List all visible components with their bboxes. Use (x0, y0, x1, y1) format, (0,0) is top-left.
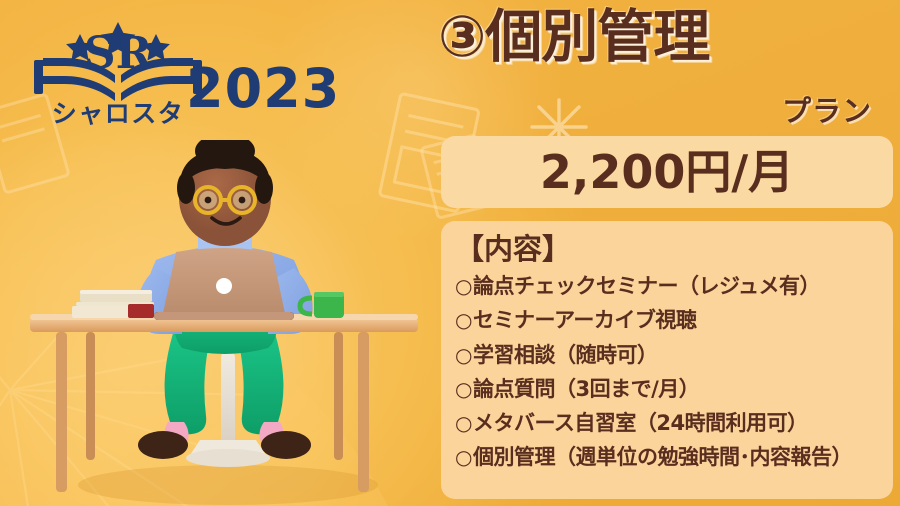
list-item-label: 論点質問（3回まで/月） (473, 372, 699, 406)
list-item-label: 学習相談（随時可） (473, 338, 658, 372)
list-item-label: 個別管理（週単位の勉強時間･内容報告） (473, 440, 852, 474)
circle-bullet-icon: ○ (455, 345, 472, 365)
circle-bullet-icon: ○ (455, 447, 472, 467)
content-box: 【内容】 ○ 論点チェックセミナー（レジュメ有） ○ セミナーアーカイブ視聴 ○… (441, 221, 893, 499)
list-item: ○ 学習相談（随時可） (455, 338, 885, 372)
circle-bullet-icon: ○ (455, 276, 472, 296)
plan-details-column: ③個別管理 プラン 2,200円/月 【内容】 ○ 論点チェックセミナー（レジュ… (432, 0, 900, 506)
plan-subtitle: プラン (782, 88, 872, 130)
list-item-label: セミナーアーカイブ視聴 (473, 303, 696, 337)
circle-bullet-icon: ○ (455, 413, 472, 433)
list-item: ○ 論点質問（3回まで/月） (455, 372, 885, 406)
brand-year: 2023 (186, 62, 340, 116)
brand-monogram: SR (84, 28, 153, 79)
circle-bullet-icon: ○ (455, 379, 472, 399)
brand-name-jp: シャロスタ (52, 99, 185, 128)
list-item-label: メタバース自習室（24時間利用可） (473, 406, 808, 440)
illustration-person-at-desk (28, 140, 420, 506)
pricing-card: SR シャロスタ 2023 (0, 0, 900, 506)
content-heading: 【内容】 (455, 231, 885, 267)
list-item: ○ 論点チェックセミナー（レジュメ有） (455, 269, 885, 303)
feature-list: ○ 論点チェックセミナー（レジュメ有） ○ セミナーアーカイブ視聴 ○ 学習相談… (455, 269, 885, 474)
list-item: ○ メタバース自習室（24時間利用可） (455, 406, 885, 440)
circle-bullet-icon: ○ (455, 310, 472, 330)
list-item: ○ 個別管理（週単位の勉強時間･内容報告） (455, 440, 885, 474)
list-item: ○ セミナーアーカイブ視聴 (455, 303, 885, 337)
price-box: 2,200円/月 (441, 136, 893, 208)
page-title: ③個別管理 (438, 8, 898, 68)
price-label: 2,200円/月 (540, 149, 794, 195)
list-item-label: 論点チェックセミナー（レジュメ有） (473, 269, 820, 303)
